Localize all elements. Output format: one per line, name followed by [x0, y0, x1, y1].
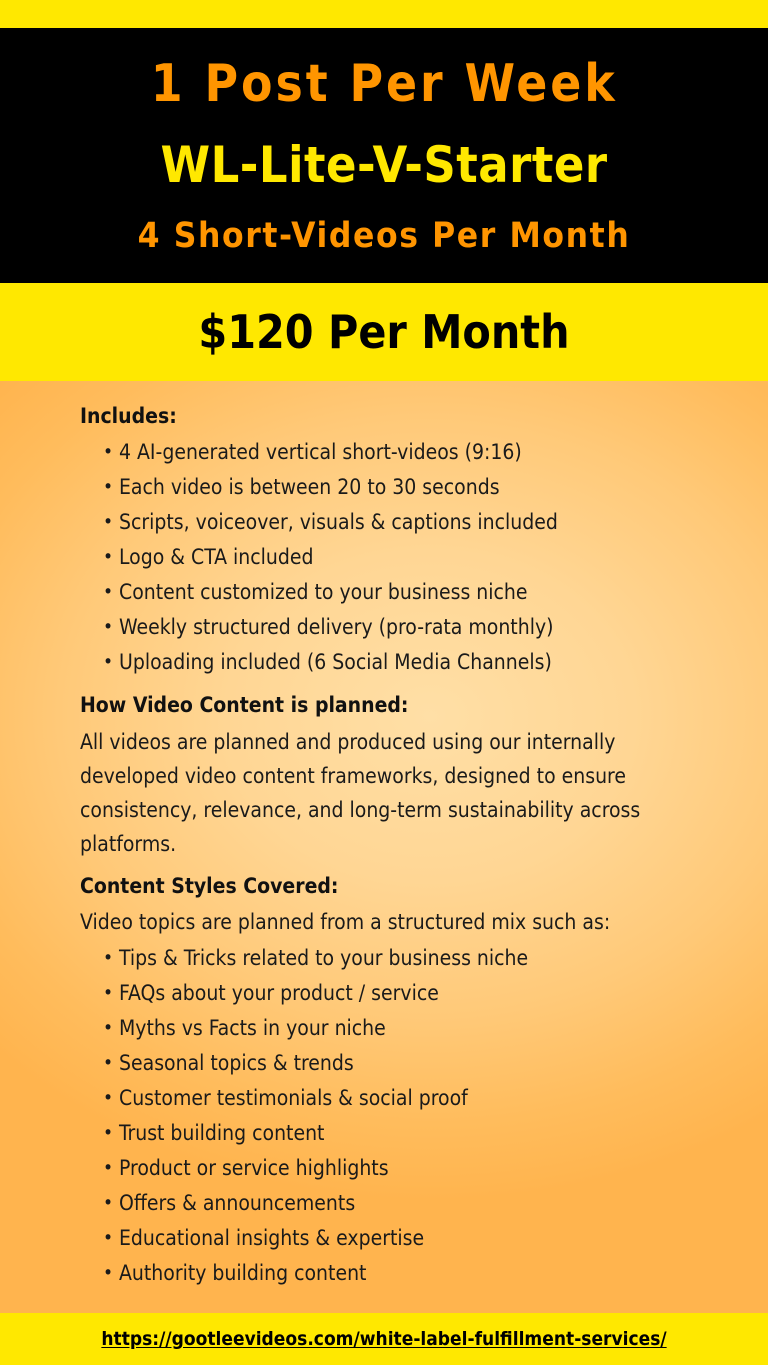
list-item: Authority building content: [103, 1256, 742, 1291]
includes-section: Includes: 4 AI-generated vertical short-…: [0, 403, 768, 680]
top-yellow-strip: [0, 0, 768, 28]
price-amount: $120 Per Month: [198, 305, 569, 359]
list-item: Trust building content: [103, 1116, 742, 1151]
list-item: Customer testimonials & social proof: [103, 1081, 742, 1116]
list-item: Seasonal topics & trends: [103, 1046, 742, 1081]
card-header: 1 Post Per Week WL-Lite-V-Starter 4 Shor…: [0, 28, 768, 283]
content-styles-section: Content Styles Covered: Video topics are…: [0, 873, 768, 1291]
planning-paragraph: All videos are planned and produced usin…: [80, 725, 695, 861]
list-item: Myths vs Facts in your niche: [103, 1011, 742, 1046]
list-item: 4 AI-generated vertical short-videos (9:…: [103, 435, 742, 470]
price-banner: $120 Per Month: [0, 283, 768, 381]
list-item: Content customized to your business nich…: [103, 575, 742, 610]
content-styles-intro: Video topics are planned from a structur…: [80, 905, 695, 939]
includes-heading: Includes:: [80, 403, 742, 429]
content-styles-list: Tips & Tricks related to your business n…: [80, 941, 742, 1291]
website-url-link[interactable]: https://gootleevideos.com/white-label-fu…: [101, 1328, 666, 1350]
header-plan-name: WL-Lite-V-Starter: [160, 139, 607, 192]
list-item: Educational insights & expertise: [103, 1221, 742, 1256]
header-tagline-videos: 4 Short-Videos Per Month: [138, 218, 631, 255]
list-item: Scripts, voiceover, visuals & captions i…: [103, 505, 742, 540]
header-tagline-posts: 1 Post Per Week: [151, 57, 618, 112]
list-item: Tips & Tricks related to your business n…: [103, 941, 742, 976]
planning-section: How Video Content is planned: All videos…: [0, 692, 768, 860]
list-item: Logo & CTA included: [103, 540, 742, 575]
list-item: Uploading included (6 Social Media Chann…: [103, 645, 742, 680]
content-styles-heading: Content Styles Covered:: [80, 873, 742, 899]
list-item: Offers & announcements: [103, 1186, 742, 1221]
list-item: Product or service highlights: [103, 1151, 742, 1186]
includes-list: 4 AI-generated vertical short-videos (9:…: [80, 435, 742, 680]
card-body: Includes: 4 AI-generated vertical short-…: [0, 381, 768, 1313]
list-item: Weekly structured delivery (pro-rata mon…: [103, 610, 742, 645]
list-item: FAQs about your product / service: [103, 976, 742, 1011]
pricing-card: 1 Post Per Week WL-Lite-V-Starter 4 Shor…: [0, 0, 768, 1365]
card-footer: https://gootleevideos.com/white-label-fu…: [0, 1313, 768, 1365]
list-item: Each video is between 20 to 30 seconds: [103, 470, 742, 505]
planning-heading: How Video Content is planned:: [80, 692, 742, 718]
